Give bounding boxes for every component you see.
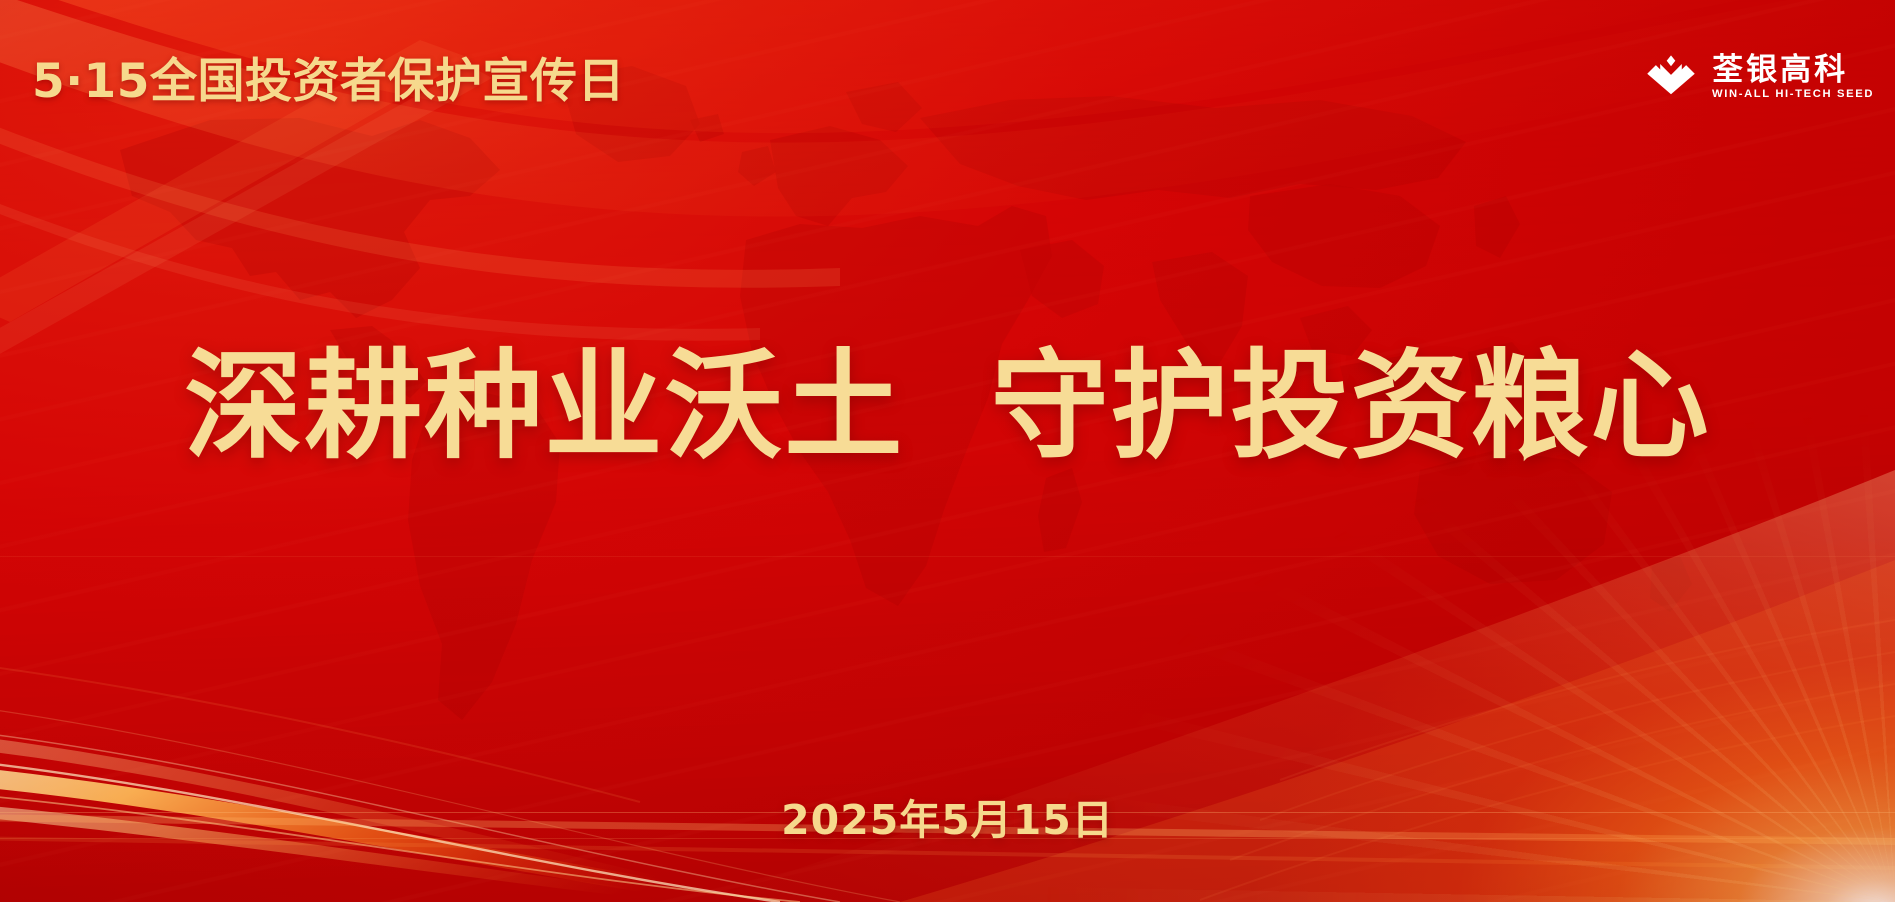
logo-text-block: 荃银高科 WIN-ALL HI-TECH SEED [1712,55,1871,100]
sprout-chevron-icon [1644,50,1698,104]
banner-content: 5·15全国投资者保护宣传日 [0,0,1895,902]
event-date: 2025年5月15日 [0,786,1895,846]
logo-company-name-en: WIN-ALL HI-TECH SEED [1712,89,1874,100]
main-headline: 深耕种业沃土 守护投资粮心 [0,340,1895,472]
top-bar: 5·15全国投资者保护宣传日 [0,40,1895,116]
company-logo: 荃银高科 WIN-ALL HI-TECH SEED [1644,50,1871,104]
logo-company-name-cn: 荃银高科 [1712,55,1871,86]
event-label: 5·15全国投资者保护宣传日 [32,42,625,111]
investor-protection-banner: 5·15全国投资者保护宣传日 [0,0,1895,902]
